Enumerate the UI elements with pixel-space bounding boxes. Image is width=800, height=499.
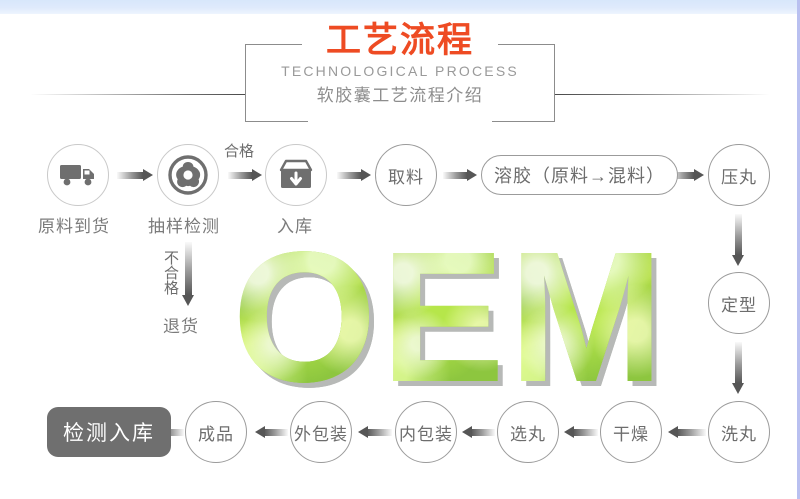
- node-inner-packaging[interactable]: 内包装: [395, 401, 457, 463]
- title-block: 工艺流程 TECHNOLOGICAL PROCESS 软胶囊工艺流程介绍: [0, 22, 800, 114]
- watermark-letter-m: M: [509, 238, 664, 398]
- edge-label-fail: 不合格: [160, 250, 181, 295]
- top-color-band: [0, 0, 800, 14]
- node-sampling-inspection[interactable]: [157, 144, 219, 206]
- edge-label-pass: 合格: [224, 140, 254, 161]
- arrow-inner-to-outer: [358, 426, 392, 439]
- node-sol-gel[interactable]: 溶胶（原料→混料）: [481, 155, 678, 195]
- inspection-icon: [168, 155, 208, 195]
- node-outer-packaging[interactable]: 外包装: [290, 401, 352, 463]
- page-title: 工艺流程: [0, 22, 800, 60]
- arrow-selection-to-inner: [462, 426, 495, 439]
- inbox-arrow-down-icon: [279, 159, 313, 191]
- node-warehousing[interactable]: [265, 144, 327, 206]
- truck-icon: [59, 162, 97, 188]
- arrow-arrival-to-sampling: [117, 169, 153, 182]
- node-return-goods[interactable]: 退货: [163, 312, 199, 337]
- node-pill-washing[interactable]: 洗丸: [708, 401, 770, 463]
- node-material-picking[interactable]: 取料: [375, 144, 437, 206]
- watermark-letter-o: O: [232, 238, 377, 398]
- arrow-outer-to-finished: [255, 426, 288, 439]
- caption-sampling-inspection: 抽样检测: [148, 212, 220, 237]
- caption-warehousing: 入库: [277, 212, 313, 237]
- node-pill-pressing[interactable]: 压丸: [708, 144, 770, 206]
- arrow-sampling-to-warehousing: [228, 169, 262, 182]
- node-shaping[interactable]: 定型: [708, 272, 770, 334]
- node-drying[interactable]: 干燥: [600, 401, 662, 463]
- node-inspection-warehousing[interactable]: 检测入库: [47, 407, 171, 457]
- arrow-drying-to-selection: [564, 426, 598, 439]
- caption-raw-material-arrival: 原料到货: [38, 212, 110, 237]
- arrow-picking-to-solgel: [443, 169, 477, 182]
- page-title-english: TECHNOLOGICAL PROCESS: [0, 62, 800, 80]
- watermark-letter-e: E: [381, 238, 505, 398]
- arrow-pressing-to-shaping: [732, 214, 745, 266]
- arrow-washing-to-drying: [668, 426, 706, 439]
- arrow-shaping-to-washing: [732, 342, 745, 394]
- node-pill-selection[interactable]: 选丸: [497, 401, 559, 463]
- page-subtitle: 软胶囊工艺流程介绍: [0, 84, 800, 108]
- node-finished-product[interactable]: 成品: [185, 401, 247, 463]
- process-flow-infographic: 工艺流程 TECHNOLOGICAL PROCESS 软胶囊工艺流程介绍 O E…: [0, 0, 800, 499]
- arrow-warehousing-to-picking: [337, 169, 371, 182]
- arrow-sampling-to-return: [182, 242, 195, 306]
- oem-watermark: O E M: [198, 238, 698, 398]
- title-frame-gap-bottom: [308, 116, 492, 125]
- node-raw-material-arrival[interactable]: [47, 144, 109, 206]
